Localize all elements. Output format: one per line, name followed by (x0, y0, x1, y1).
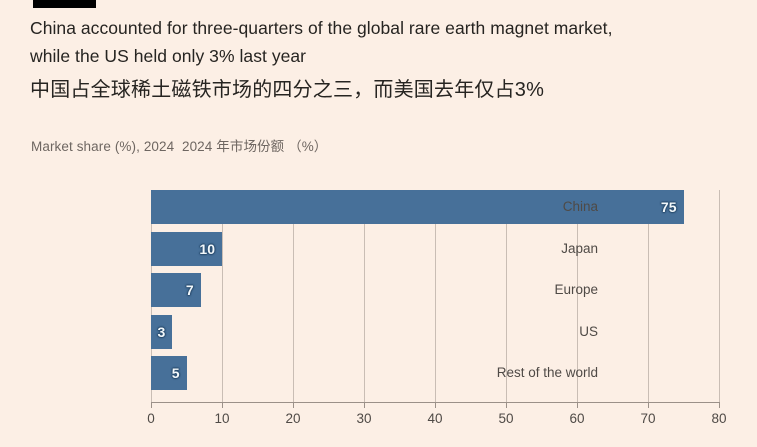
x-tick-40 (435, 402, 436, 408)
bar-value-china: 75 (661, 190, 677, 224)
x-tick-10 (222, 402, 223, 408)
category-label-japan: Japan (0, 232, 598, 266)
x-tick-50 (506, 402, 507, 408)
x-tick-label-0: 0 (147, 411, 155, 426)
category-label-china: China (0, 190, 598, 224)
bar-chart: 7510735 01020304050607080 ChinaJapanEuro… (0, 182, 757, 432)
x-tick-label-10: 10 (214, 411, 229, 426)
chart-subtitle: Market share (%), 2024 2024 年市场份额 （%） (31, 138, 327, 156)
kicker-logo-bar (33, 0, 96, 8)
x-tick-label-50: 50 (498, 411, 513, 426)
x-tick-label-60: 60 (569, 411, 584, 426)
headline-block: China accounted for three-quarters of th… (30, 14, 730, 106)
category-label-us: US (0, 315, 598, 349)
category-label-rest-of-the-world: Rest of the world (0, 356, 598, 390)
gridline-80 (719, 190, 720, 402)
x-tick-label-40: 40 (427, 411, 442, 426)
x-tick-0 (151, 402, 152, 408)
x-tick-20 (293, 402, 294, 408)
headline-english-line-2: while the US held only 3% last year (30, 42, 730, 70)
x-tick-label-80: 80 (711, 411, 726, 426)
x-tick-label-70: 70 (640, 411, 655, 426)
x-tick-70 (648, 402, 649, 408)
category-label-europe: Europe (0, 273, 598, 307)
x-tick-label-20: 20 (285, 411, 300, 426)
x-tick-60 (577, 402, 578, 408)
x-tick-80 (719, 402, 720, 408)
chart-page: China accounted for three-quarters of th… (0, 0, 757, 447)
headline-chinese: 中国占全球稀土磁铁市场的四分之三，而美国去年仅占3% (30, 74, 730, 106)
x-tick-label-30: 30 (356, 411, 371, 426)
headline-english-line-1: China accounted for three-quarters of th… (30, 14, 730, 42)
x-tick-30 (364, 402, 365, 408)
